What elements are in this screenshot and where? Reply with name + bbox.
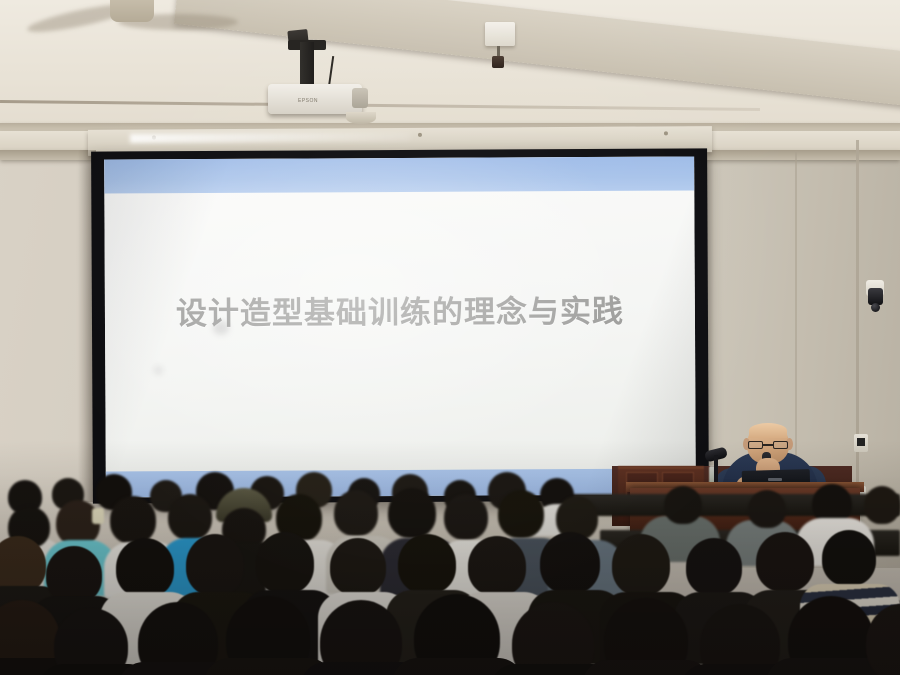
audience-head bbox=[116, 538, 174, 598]
audience-head bbox=[612, 534, 670, 596]
audience-head bbox=[748, 490, 786, 528]
screen-surface: 设计造型基础训练的理念与实践 bbox=[104, 156, 696, 497]
lecture-hall-photo: EPSON 设计造型基础训练的理念与实践 bbox=[0, 0, 900, 675]
audience-head bbox=[330, 538, 386, 596]
audience-head bbox=[398, 534, 456, 594]
audience-head bbox=[498, 490, 544, 538]
projector-mount-arm bbox=[300, 42, 314, 88]
eyeglasses-icon bbox=[748, 441, 788, 449]
lecturer-bald-crown bbox=[749, 423, 787, 438]
screen-smudge bbox=[213, 321, 229, 335]
slide-title: 设计造型基础训练的理念与实践 bbox=[176, 285, 624, 332]
screen-smudge bbox=[153, 365, 163, 375]
ceiling-sensor-head bbox=[492, 56, 504, 68]
smoke-detector-icon bbox=[346, 112, 376, 124]
hair-clip bbox=[92, 508, 104, 524]
audience-head bbox=[540, 532, 600, 594]
audience-head bbox=[822, 530, 876, 586]
projector-brand-label: EPSON bbox=[298, 98, 318, 104]
projector-lens bbox=[352, 88, 368, 108]
audience-head bbox=[334, 490, 378, 536]
audience-head bbox=[686, 538, 742, 596]
audience-head bbox=[110, 496, 156, 544]
slide-band-top bbox=[104, 156, 694, 193]
audience-head bbox=[186, 534, 244, 596]
power-outlet-socket bbox=[857, 438, 865, 446]
ceiling-fan-icon bbox=[110, 0, 154, 22]
audience: LASH bbox=[0, 450, 900, 675]
audience-head bbox=[664, 486, 702, 524]
audience-head bbox=[256, 532, 314, 594]
ceiling-sensor-box bbox=[485, 22, 515, 46]
audience-head bbox=[468, 536, 526, 596]
presentation-slide: 设计造型基础训练的理念与实践 bbox=[104, 156, 696, 497]
slide-body: 设计造型基础训练的理念与实践 bbox=[104, 190, 695, 471]
audience-head bbox=[444, 494, 488, 540]
security-camera-lens bbox=[871, 303, 880, 312]
audience-head bbox=[388, 488, 436, 538]
audience-head bbox=[756, 532, 814, 592]
audience-head bbox=[168, 494, 212, 540]
audience-head bbox=[864, 486, 900, 524]
